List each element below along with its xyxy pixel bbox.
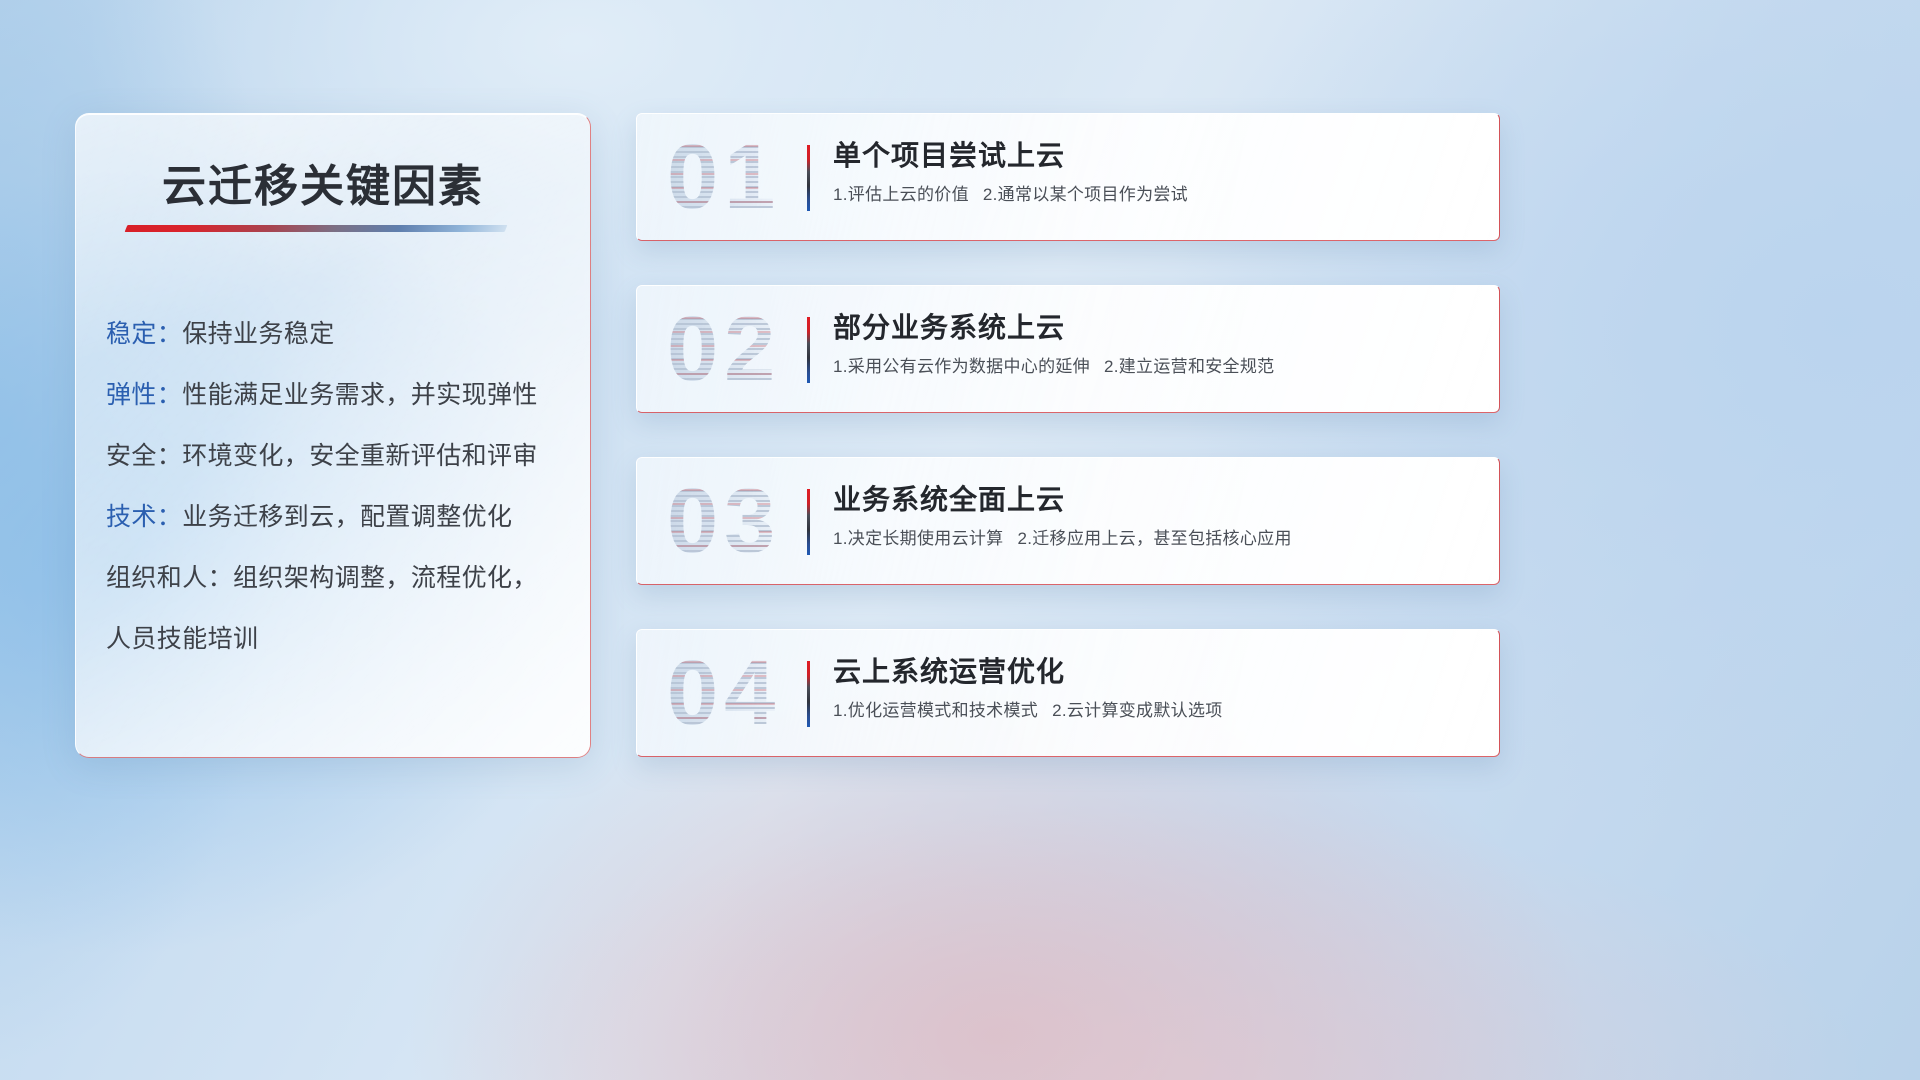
card-title: 业务系统全面上云 [833, 480, 1481, 520]
card-accent-divider [807, 317, 810, 383]
slide-stage: 云迁移关键因素 稳定：保持业务稳定 弹性：性能满足业务需求，并实现弹性 安全：环… [0, 0, 1920, 1080]
stage-card-04[interactable]: 04 04 云上系统运营优化 1.优化运营模式和技术模式2.云计算变成默认选项 [636, 629, 1500, 757]
card-accent-divider [807, 661, 810, 727]
title-underline-accent [125, 225, 508, 232]
card-description-part-1: 1.采用公有云作为数据中心的延伸 [833, 357, 1090, 376]
card-description-part-2: 2.建立运营和安全规范 [1104, 357, 1274, 376]
list-item-key: 组织和人： [106, 564, 233, 592]
card-number-glyph: 02 [667, 303, 781, 395]
card-number-glyph: 01 [667, 131, 781, 223]
card-title: 部分业务系统上云 [833, 308, 1481, 348]
card-body: 部分业务系统上云 1.采用公有云作为数据中心的延伸2.建立运营和安全规范 [833, 308, 1481, 379]
card-body: 业务系统全面上云 1.决定长期使用云计算2.迁移应用上云，甚至包括核心应用 [833, 480, 1481, 551]
card-description-part-1: 1.优化运营模式和技术模式 [833, 701, 1038, 720]
list-item-text: 环境变化，安全重新评估和评审 [182, 442, 538, 470]
list-item-text: 业务迁移到云，配置调整优化 [182, 503, 512, 531]
card-title: 单个项目尝试上云 [833, 136, 1481, 176]
card-description: 1.评估上云的价值2.通常以某个项目作为尝试 [833, 183, 1481, 207]
list-item-continued: 人员技能培训 [106, 609, 572, 670]
list-item: 组织和人：组织架构调整，流程优化， [106, 548, 572, 609]
page-title: 云迁移关键因素 [162, 150, 484, 214]
list-item: 技术：业务迁移到云，配置调整优化 [106, 487, 572, 548]
card-description: 1.采用公有云作为数据中心的延伸2.建立运营和安全规范 [833, 355, 1481, 379]
card-body: 云上系统运营优化 1.优化运营模式和技术模式2.云计算变成默认选项 [833, 652, 1481, 723]
card-body: 单个项目尝试上云 1.评估上云的价值2.通常以某个项目作为尝试 [833, 136, 1481, 207]
card-description-part-1: 1.评估上云的价值 [833, 185, 969, 204]
card-accent-divider [807, 489, 810, 555]
card-accent-divider [807, 145, 810, 211]
stage-card-02[interactable]: 02 02 部分业务系统上云 1.采用公有云作为数据中心的延伸2.建立运营和安全… [636, 285, 1500, 413]
card-description: 1.优化运营模式和技术模式2.云计算变成默认选项 [833, 699, 1481, 723]
key-factors-list: 稳定：保持业务稳定 弹性：性能满足业务需求，并实现弹性 安全：环境变化，安全重新… [106, 304, 572, 670]
list-item-key: 弹性： [106, 381, 182, 409]
list-item-key: 技术： [106, 503, 182, 531]
list-item-text: 性能满足业务需求，并实现弹性 [182, 381, 538, 409]
card-description-part-2: 2.云计算变成默认选项 [1052, 701, 1222, 720]
card-number-glyph: 04 [667, 647, 781, 739]
list-item-text: 人员技能培训 [106, 625, 258, 653]
list-item-text: 保持业务稳定 [182, 320, 334, 348]
list-item-key: 稳定： [106, 320, 182, 348]
card-title: 云上系统运营优化 [833, 652, 1481, 692]
list-item-key: 安全： [106, 442, 182, 470]
key-factors-panel: 云迁移关键因素 稳定：保持业务稳定 弹性：性能满足业务需求，并实现弹性 安全：环… [75, 113, 591, 758]
card-description-part-2: 2.迁移应用上云，甚至包括核心应用 [1017, 529, 1291, 548]
list-item-text: 组织架构调整，流程优化， [233, 564, 538, 592]
card-description: 1.决定长期使用云计算2.迁移应用上云，甚至包括核心应用 [833, 527, 1481, 551]
list-item: 稳定：保持业务稳定 [106, 304, 572, 365]
card-description-part-1: 1.决定长期使用云计算 [833, 529, 1003, 548]
list-item: 弹性：性能满足业务需求，并实现弹性 [106, 365, 572, 426]
list-item: 安全：环境变化，安全重新评估和评审 [106, 426, 572, 487]
card-number-glyph: 03 [667, 475, 781, 567]
stage-card-03[interactable]: 03 03 业务系统全面上云 1.决定长期使用云计算2.迁移应用上云，甚至包括核… [636, 457, 1500, 585]
stage-card-01[interactable]: 01 01 单个项目尝试上云 1.评估上云的价值2.通常以某个项目作为尝试 [636, 113, 1500, 241]
card-description-part-2: 2.通常以某个项目作为尝试 [983, 185, 1188, 204]
